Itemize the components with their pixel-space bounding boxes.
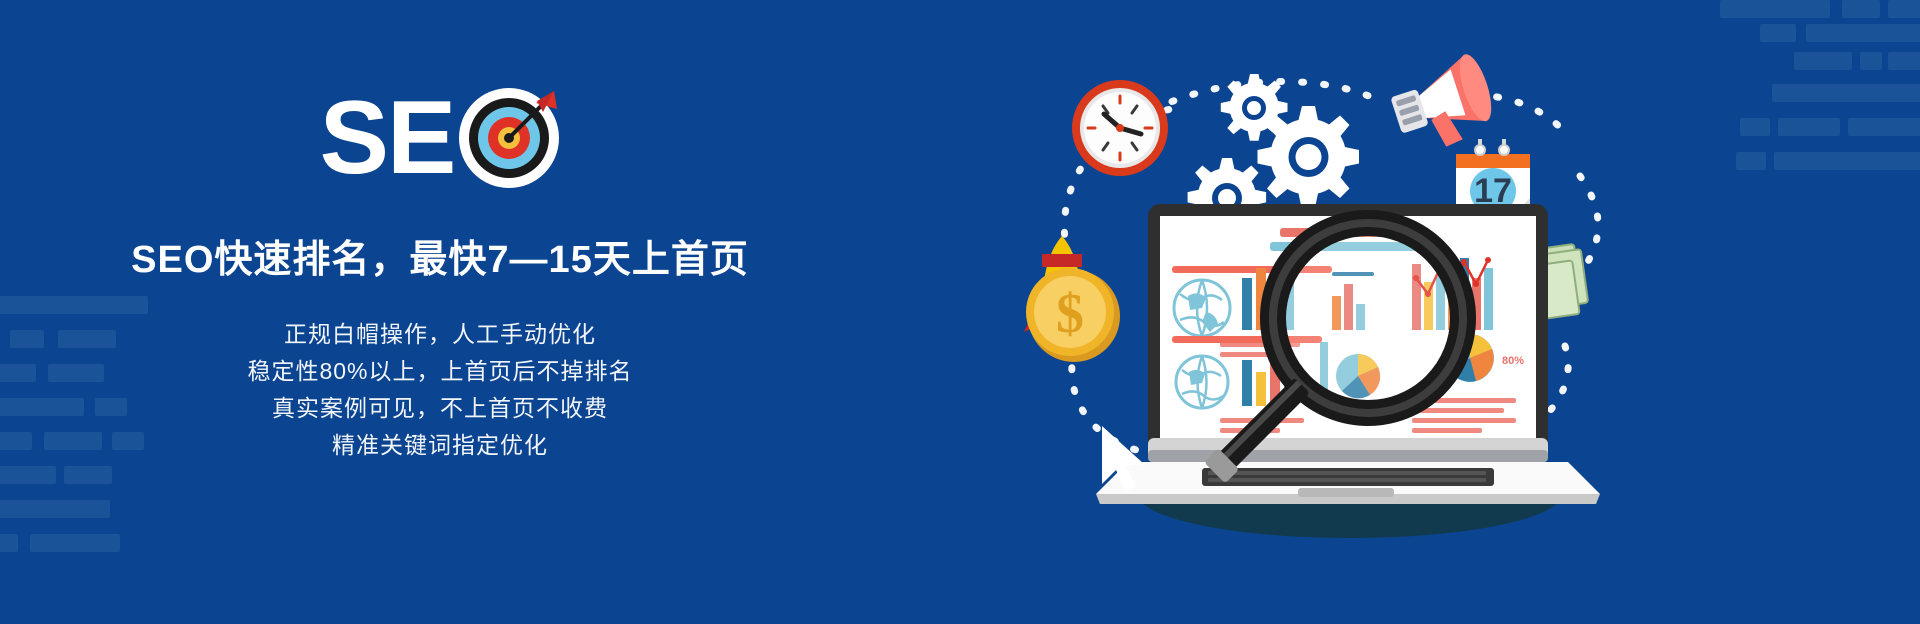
pie-percentage-label: 80% [1502, 355, 1524, 367]
seo-banner: SE SEO快速排名，最快7—15天上首页 正规白帽操作，人工手动优化 稳定性8… [0, 0, 1920, 624]
feature-list: 正规白帽操作，人工手动优化 稳定性80%以上，上首页后不掉排名 真实案例可见，不… [0, 316, 880, 464]
seo-illustration: 17 $ [980, 46, 1700, 576]
seo-logo-letters: SE [320, 88, 455, 188]
text-content: SE SEO快速排名，最快7—15天上首页 正规白帽操作，人工手动优化 稳定性8… [0, 0, 880, 624]
feature-item-2: 稳定性80%以上，上首页后不掉排名 [0, 353, 880, 390]
page-title: SEO快速排名，最快7—15天上首页 [0, 228, 880, 283]
feature-item-4: 精准关键词指定优化 [0, 427, 880, 464]
code-pattern-right [1690, 0, 1920, 624]
feature-item-3: 真实案例可见，不上首页不收费 [0, 390, 880, 427]
dollar-coin-icon: $ [1026, 268, 1120, 362]
alarm-clock-icon [1072, 80, 1168, 176]
megaphone-icon [1385, 51, 1502, 159]
seo-logo: SE [0, 84, 880, 192]
feature-item-1: 正规白帽操作，人工手动优化 [0, 316, 880, 353]
target-bullseye-icon [458, 87, 560, 189]
svg-text:$: $ [1056, 283, 1084, 345]
